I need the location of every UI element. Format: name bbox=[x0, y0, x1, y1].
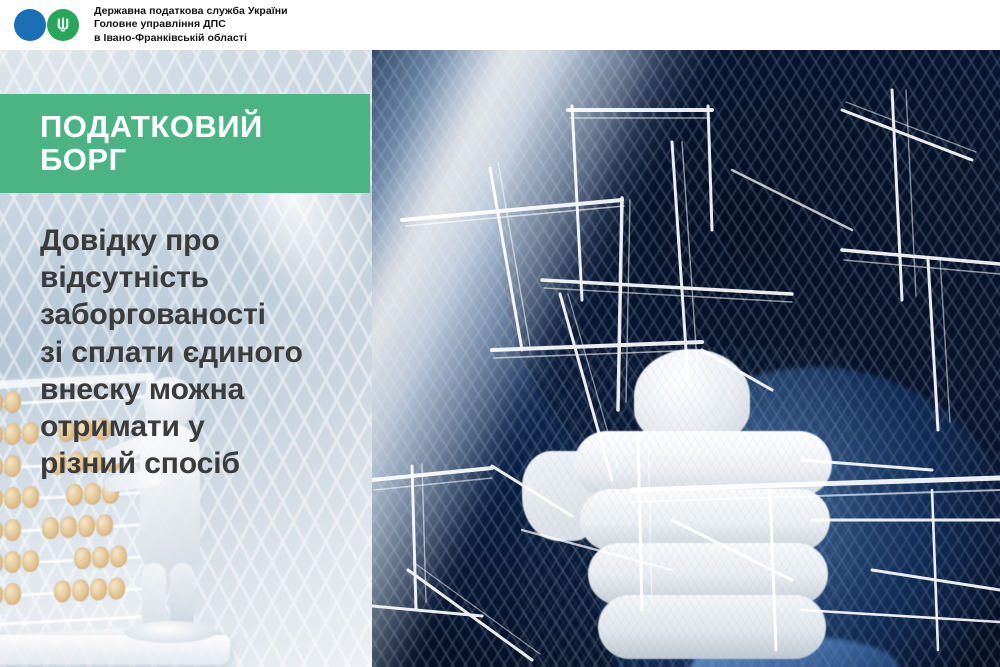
banner-title-line-2: БОРГ bbox=[40, 144, 370, 177]
figure-right-leg bbox=[170, 563, 194, 629]
page-header: Державна податкова служба України Головн… bbox=[0, 0, 1000, 50]
organization-name: Державна податкова служба України Головн… bbox=[94, 5, 288, 45]
glove-finger-2 bbox=[580, 489, 830, 551]
headline-text: Довідку про відсутність заборгованості з… bbox=[40, 222, 370, 482]
org-line-2: Головне управління ДПС bbox=[94, 18, 288, 31]
logo-blue-circle-icon bbox=[14, 9, 46, 41]
right-image-panel bbox=[372, 50, 1000, 667]
headline-line-6: отримати у bbox=[40, 408, 370, 445]
headline-line-4: зі сплати єдиного bbox=[40, 334, 370, 371]
figure-pedestal bbox=[124, 621, 216, 643]
headline-line-2: відсутність bbox=[40, 259, 370, 296]
glove-knuckle bbox=[650, 359, 726, 425]
headline-line-7: різний спосіб bbox=[40, 445, 370, 482]
org-line-1: Державна податкова служба України bbox=[94, 5, 288, 18]
glove-finger-4 bbox=[598, 595, 826, 659]
poster-stage: ПОДАТКОВИЙ БОРГ Довідку про відсутність … bbox=[0, 50, 1000, 667]
poster-root: Державна податкова служба України Головн… bbox=[0, 0, 1000, 667]
org-line-3: в Івано-Франківській області bbox=[94, 32, 288, 45]
banner-title-line-1: ПОДАТКОВИЙ bbox=[40, 111, 370, 144]
headline-line-5: внеску можна bbox=[40, 371, 370, 408]
figure-left-leg bbox=[142, 563, 166, 629]
headline-line-3: заборгованості bbox=[40, 296, 370, 333]
dps-logo bbox=[14, 8, 80, 42]
logo-green-circle-icon bbox=[47, 9, 79, 41]
topic-banner: ПОДАТКОВИЙ БОРГ bbox=[0, 94, 370, 193]
ukraine-trident-icon bbox=[55, 16, 71, 34]
white-gloved-fist bbox=[522, 347, 852, 667]
headline-line-1: Довідку про bbox=[40, 222, 370, 259]
glove-finger-1 bbox=[574, 431, 832, 497]
